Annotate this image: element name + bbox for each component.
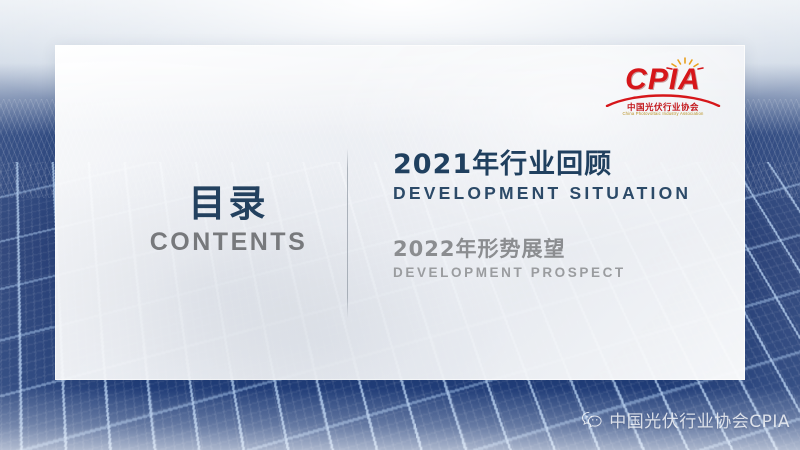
content-card: CPIA 中国光伏行业协会 China Photovoltaic Industr… [55,45,745,380]
wechat-watermark: 中国光伏行业协会CPIA [581,407,790,432]
agenda-item-1[interactable]: 2021年行业回顾 DEVELOPMENT SITUATION [393,150,723,204]
agenda-item-2-title-en: DEVELOPMENT PROSPECT [393,265,723,280]
contents-heading: 目录 CONTENTS [55,185,402,257]
agenda-item-1-title-cn: 2021年行业回顾 [393,150,723,180]
agenda-item-2-title-cn: 2022年形势展望 [393,238,723,262]
logo-english-name: China Photovoltaic Industry Association [603,111,723,116]
agenda-list: 2021年行业回顾 DEVELOPMENT SITUATION 2022年形势展… [393,150,723,314]
vertical-divider [347,148,348,318]
contents-title-cn: 目录 [55,185,402,224]
watermark-text: 中国光伏行业协会CPIA [609,407,790,432]
agenda-item-2[interactable]: 2022年形势展望 DEVELOPMENT PROSPECT [393,238,723,280]
presentation-slide: CPIA 中国光伏行业协会 China Photovoltaic Industr… [0,0,800,450]
cpia-logo: CPIA 中国光伏行业协会 China Photovoltaic Industr… [603,57,723,119]
contents-title-en: CONTENTS [55,228,402,257]
wechat-icon [581,410,603,429]
cpia-wordmark: CPIA [603,65,723,95]
agenda-item-1-title-en: DEVELOPMENT SITUATION [393,183,723,204]
